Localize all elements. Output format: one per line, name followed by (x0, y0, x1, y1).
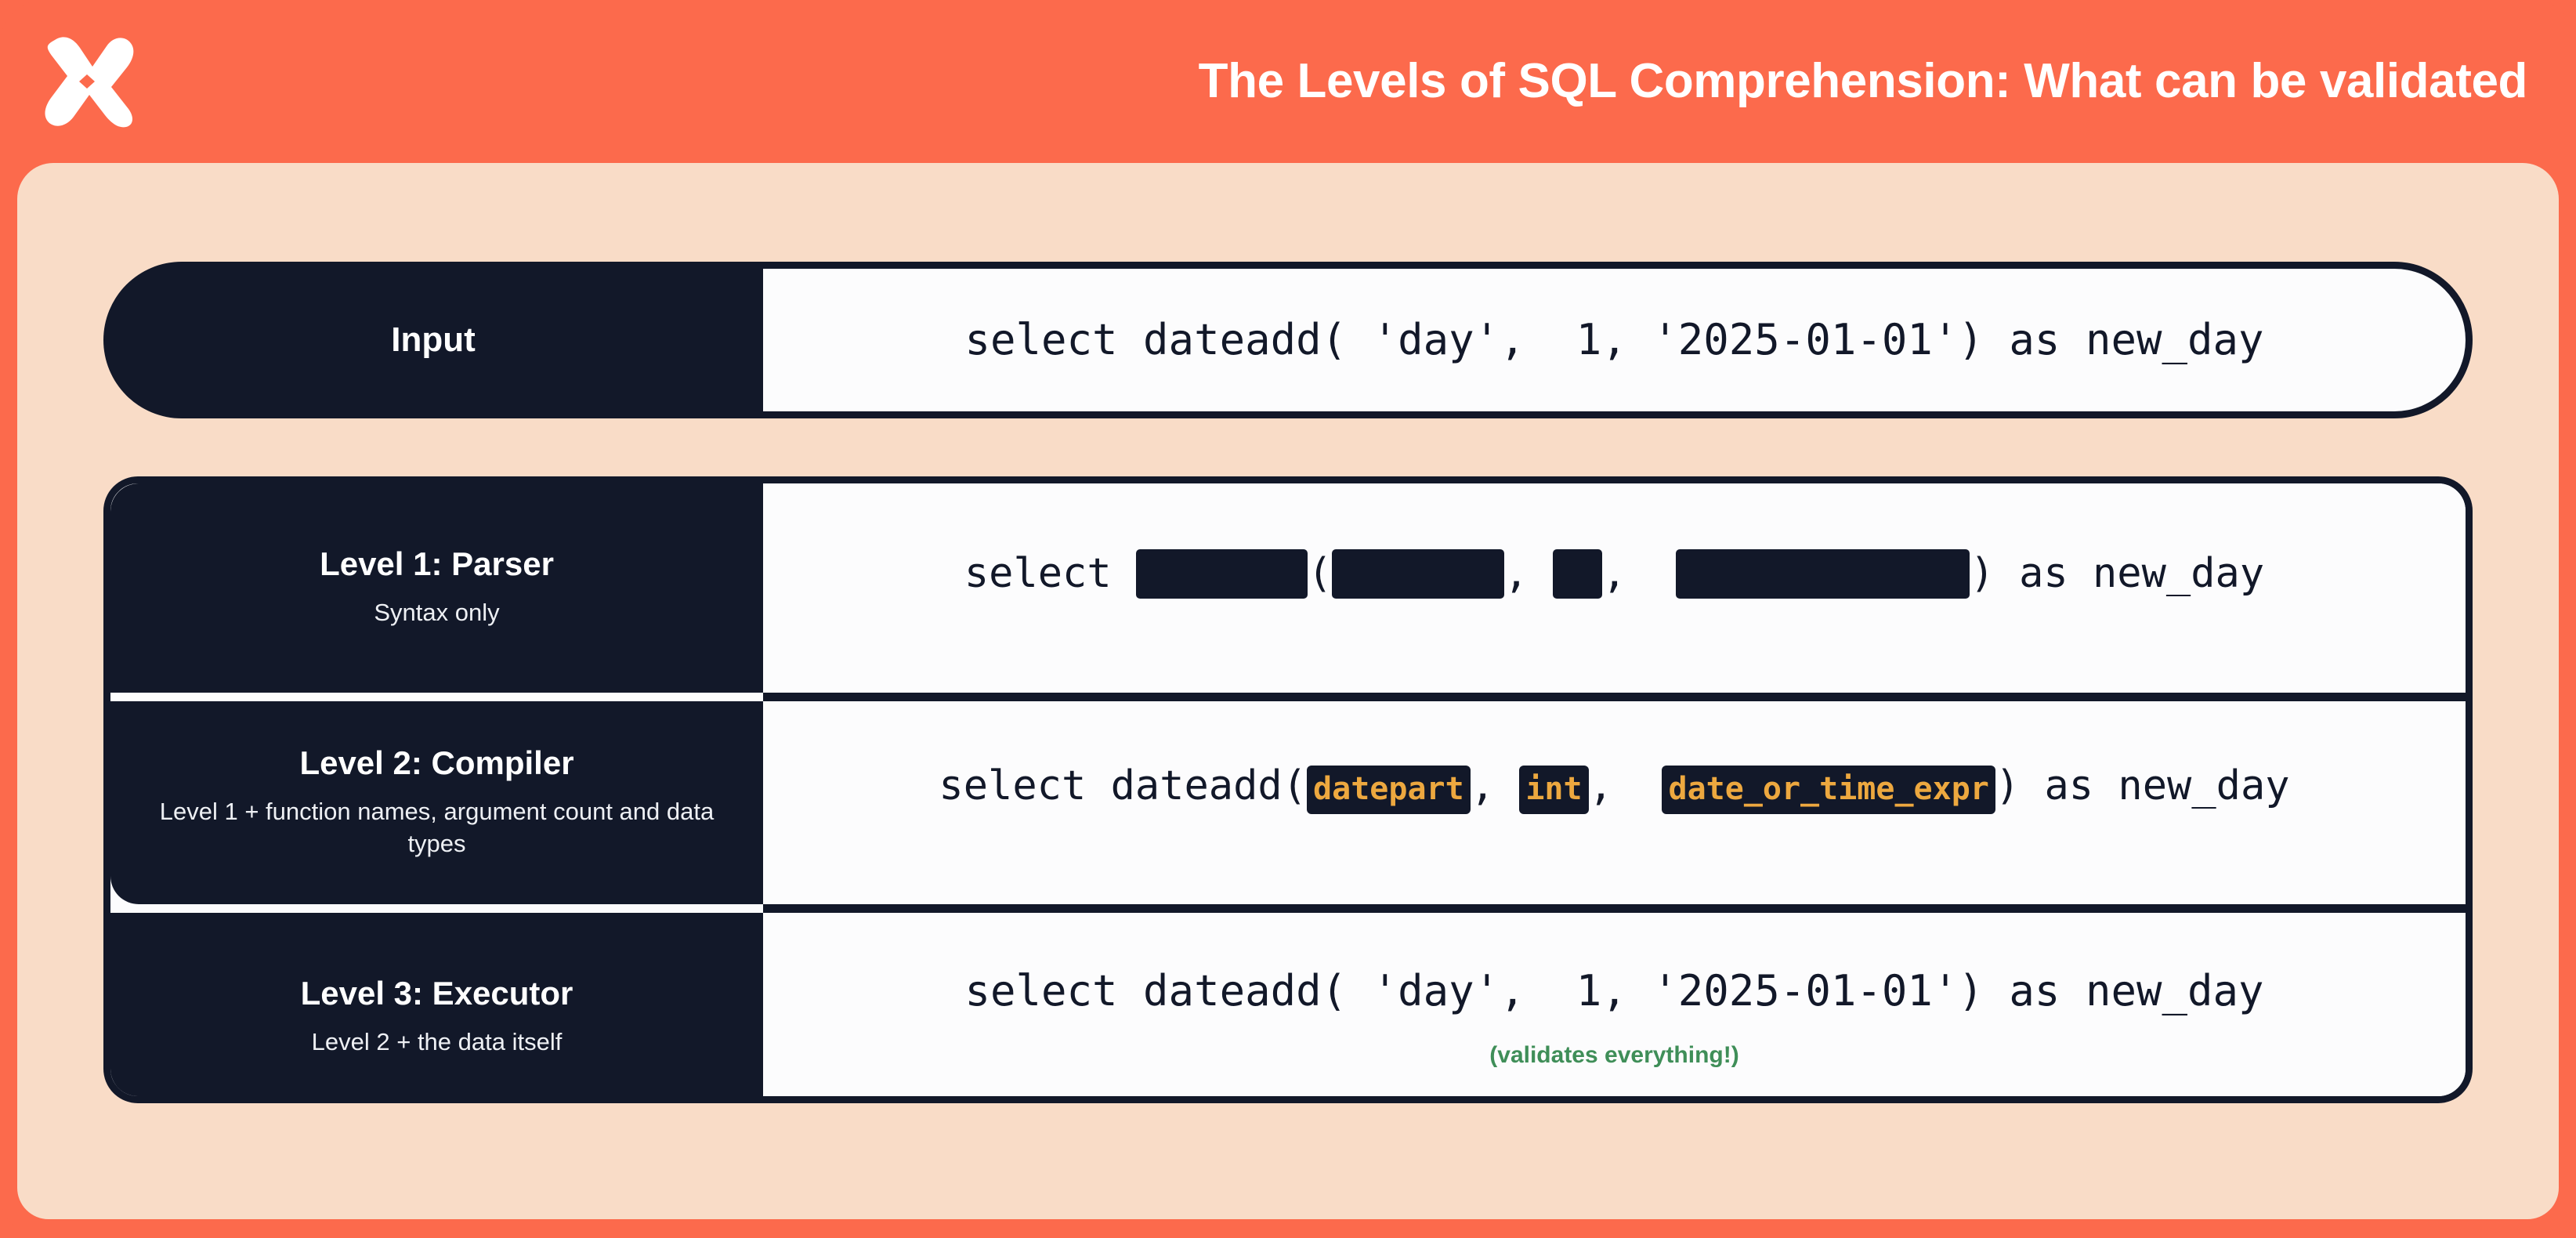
code-text: , (1471, 762, 1520, 809)
level-1-label-cell: Level 1: Parser Syntax only (110, 483, 763, 693)
code-text: , (1504, 550, 1554, 597)
row-divider (110, 693, 2466, 701)
page-title: The Levels of SQL Comprehension: What ca… (1199, 57, 2527, 106)
level-subtitle: Level 2 + the data itself (312, 1026, 563, 1059)
level-2-code-cell: select dateadd(datepart, int, date_or_ti… (763, 701, 2466, 904)
row-divider (110, 904, 2466, 913)
code-text: , (1602, 550, 1676, 597)
row-divider-code-side (763, 904, 2466, 913)
level-3-note: (validates everything!) (1489, 1044, 1738, 1067)
code-text: select (964, 550, 1136, 597)
row-divider-label-side (110, 693, 763, 701)
input-label: Input (391, 323, 476, 357)
input-row-label-cell: Input (103, 262, 763, 418)
row-divider-label-side (110, 904, 763, 913)
code-text: ) as new_day (1970, 550, 2264, 597)
redacted-token: '2025-01-01' (1676, 549, 1970, 599)
level-row: Level 1: Parser Syntax only select datea… (110, 483, 2466, 693)
level-2-label-cell: Level 2: Compiler Level 1 + function nam… (110, 701, 763, 904)
level-2-sql-code: select dateadd(datepart, int, date_or_ti… (939, 763, 2289, 814)
level-subtitle: Syntax only (374, 597, 499, 629)
level-title: Level 3: Executor (301, 976, 573, 1011)
level-row: Level 3: Executor Level 2 + the data its… (110, 913, 2466, 1103)
input-sql-code: select dateadd( 'day', 1, '2025-01-01') … (964, 316, 2263, 364)
row-divider-code-side (763, 693, 2466, 701)
type-token-chip: datepart (1307, 766, 1471, 814)
levels-card: Level 1: Parser Syntax only select datea… (103, 476, 2473, 1103)
type-token-chip: int (1519, 766, 1588, 814)
redacted-token: dateadd (1136, 549, 1308, 599)
code-text: select dateadd( (939, 762, 1307, 809)
redacted-token: 'day' (1332, 549, 1503, 599)
type-token-chip: date_or_time_expr (1662, 766, 1995, 814)
level-3-label-cell: Level 3: Executor Level 2 + the data its… (110, 913, 763, 1103)
input-row-code-cell: select dateadd( 'day', 1, '2025-01-01') … (763, 262, 2473, 418)
content-panel: Input select dateadd( 'day', 1, '2025-01… (17, 163, 2559, 1219)
code-text: ( (1308, 550, 1332, 597)
level-row: Level 2: Compiler Level 1 + function nam… (110, 701, 2466, 904)
redacted-token: 1 (1553, 549, 1602, 599)
code-text: ) as new_day (1995, 762, 2290, 809)
header-bar: The Levels of SQL Comprehension: What ca… (0, 0, 2576, 163)
code-text: select dateadd( 'day', 1, '2025-01-01') … (964, 966, 2263, 1015)
poster-root: The Levels of SQL Comprehension: What ca… (0, 0, 2576, 1238)
level-3-code-cell: select dateadd( 'day', 1, '2025-01-01') … (763, 913, 2466, 1103)
level-3-sql-code: select dateadd( 'day', 1, '2025-01-01') … (964, 967, 2263, 1015)
level-title: Level 1: Parser (320, 547, 554, 581)
input-row: Input select dateadd( 'day', 1, '2025-01… (103, 262, 2473, 418)
x-mark-logo-icon (39, 35, 135, 128)
code-text: , (1589, 762, 1662, 809)
level-title: Level 2: Compiler (299, 746, 573, 780)
level-1-sql-code: select dateadd( 'day' , 1, '2025-01-01')… (964, 549, 2264, 599)
level-subtitle: Level 1 + function names, argument count… (155, 796, 719, 860)
level-1-code-cell: select dateadd( 'day' , 1, '2025-01-01')… (763, 483, 2466, 693)
